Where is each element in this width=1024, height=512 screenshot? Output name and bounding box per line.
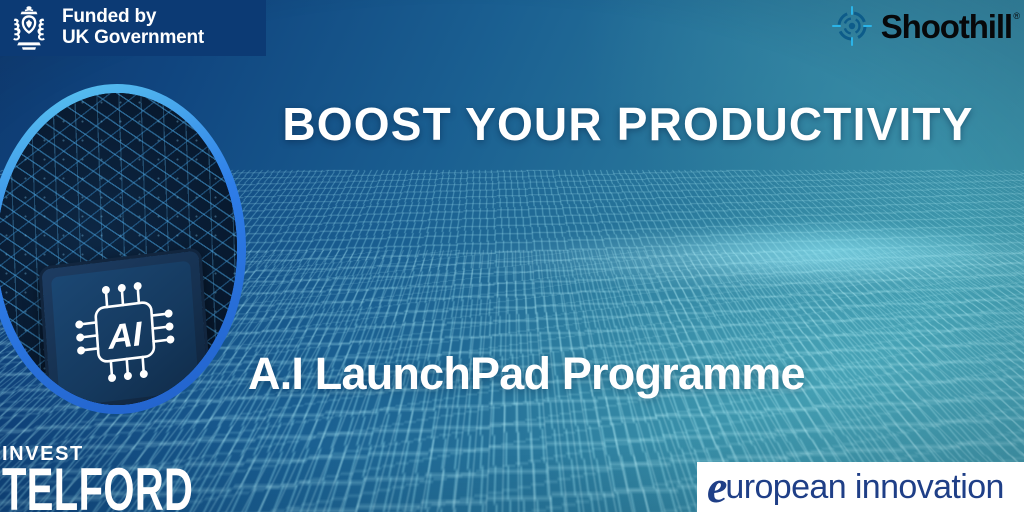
crosshair-target-icon [830,4,874,48]
chip-surface: AI [51,261,199,405]
european-innovation-word: uropean innovation [725,470,1003,504]
processor-chip: AI [38,247,212,405]
partner-logo-european-innovation: e uropean innovation [697,462,1024,512]
invest-telford-name-text: TELFORD [2,460,193,512]
brand-logo-shoothill[interactable]: Shoothill ® [830,4,1012,48]
circuit-board-photo: AI [0,93,237,405]
funder-logo-text: Funded by UK Government [62,7,204,48]
ai-chip-icon: AI [63,270,186,394]
promotional-banner: Funded by UK Government Shoothill ® [0,0,1024,512]
partner-logo-invest-telford: INVEST TELFORD [2,444,260,512]
brand-wordmark: Shoothill ® [881,10,1012,43]
programme-subtitle: A.I LaunchPad Programme [248,350,948,399]
page-title: BOOST YOUR PRODUCTIVITY [248,100,1008,148]
ai-chip-circle-image: AI [0,84,246,414]
chip-label: AI [106,315,145,357]
european-innovation-initial: e [707,466,727,507]
brand-wordmark-text: Shoothill [881,8,1012,45]
funder-logo-uk-government: Funded by UK Government [0,0,266,56]
royal-coat-of-arms-icon [6,4,52,52]
trademark-symbol: ® [1013,12,1020,21]
